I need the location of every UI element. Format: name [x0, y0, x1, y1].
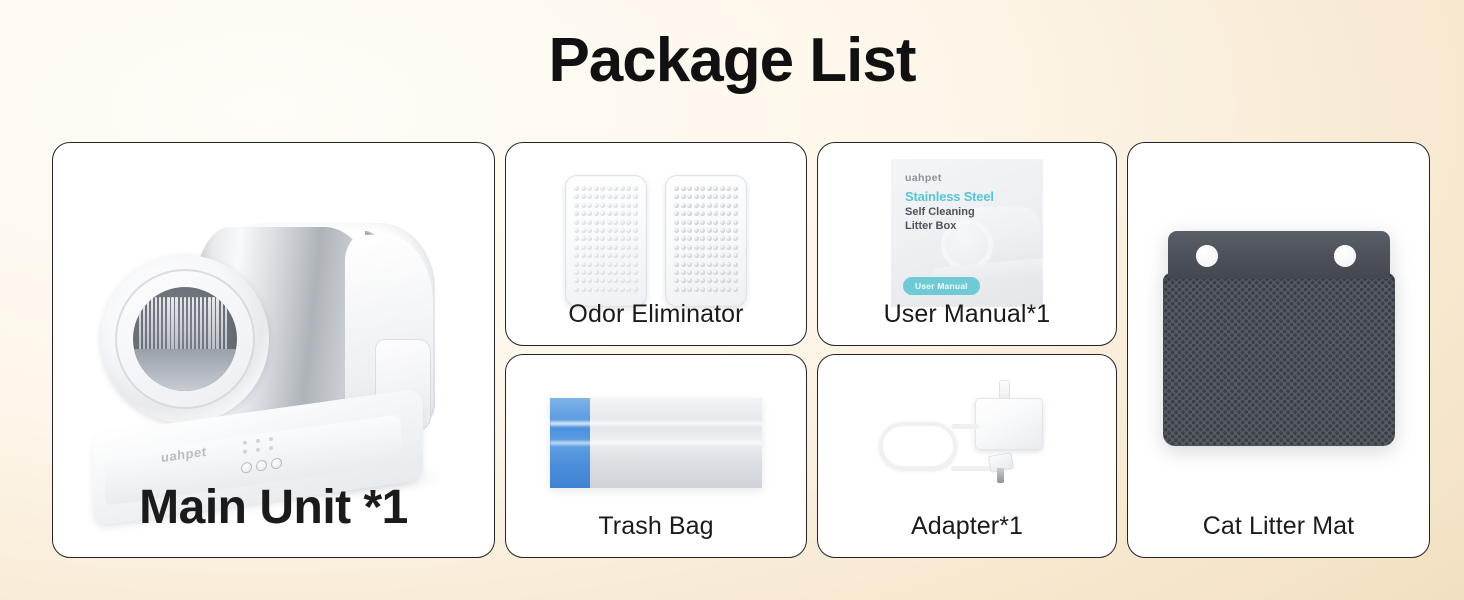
- trash-bag-icon: [506, 383, 806, 503]
- manual-subtitle-line2: Litter Box: [905, 220, 956, 232]
- cat-litter-mat-icon: [1128, 223, 1429, 453]
- card-label-cat-litter-mat: Cat Litter Mat: [1203, 512, 1354, 557]
- card-adapter[interactable]: Adapter*1: [817, 354, 1117, 558]
- manual-brand: uahpet: [905, 172, 942, 184]
- user-manual-icon: uahpet Stainless Steel Self Cleaning Lit…: [818, 153, 1116, 313]
- manual-title: Stainless Steel: [905, 189, 994, 204]
- card-trash-bag[interactable]: Trash Bag: [505, 354, 807, 558]
- card-label-odor-eliminator: Odor Eliminator: [568, 300, 743, 345]
- card-label-trash-bag: Trash Bag: [598, 512, 713, 557]
- card-label-user-manual: User Manual*1: [884, 300, 1051, 345]
- package-list-grid: uahpet Main Unit *1 Odor Eliminator uahp…: [52, 142, 1414, 558]
- card-main-unit[interactable]: uahpet Main Unit *1: [52, 142, 495, 558]
- adapter-icon: [818, 373, 1116, 513]
- card-odor-eliminator[interactable]: Odor Eliminator: [505, 142, 807, 346]
- card-label-main-unit: Main Unit *1: [139, 480, 408, 557]
- manual-subtitle-line1: Self Cleaning: [905, 206, 975, 218]
- card-cat-litter-mat[interactable]: Cat Litter Mat: [1127, 142, 1430, 558]
- manual-badge: User Manual: [903, 277, 980, 295]
- card-label-adapter: Adapter*1: [911, 512, 1023, 557]
- card-user-manual[interactable]: uahpet Stainless Steel Self Cleaning Lit…: [817, 142, 1117, 346]
- page-title: Package List: [0, 28, 1464, 93]
- odor-eliminator-icon: [506, 165, 806, 317]
